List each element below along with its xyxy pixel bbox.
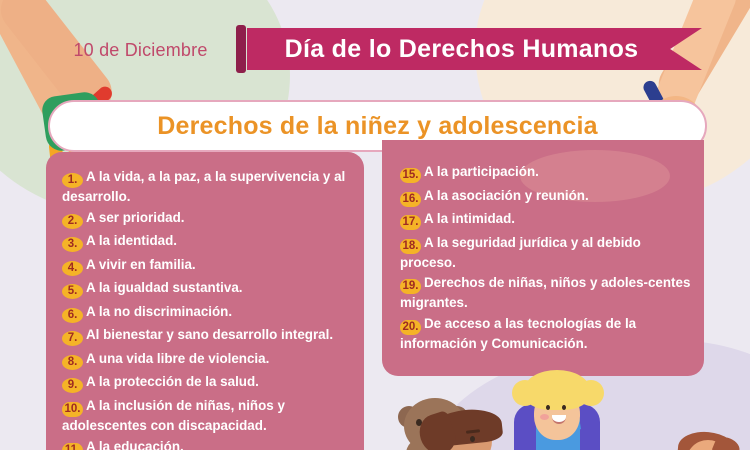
right-item: 16.A la asociación y reunión. xyxy=(400,187,692,207)
girl-eye xyxy=(546,405,550,410)
right-item: 1.A la vida, a la paz, a la supervivenci… xyxy=(62,168,354,205)
right-item-number-badge: 18. xyxy=(400,239,421,254)
right-item-number-badge: 7. xyxy=(62,331,83,346)
boy-head xyxy=(440,414,492,450)
right-item-number-badge: 5. xyxy=(62,284,83,299)
right-item-number-badge: 11. xyxy=(62,443,83,450)
girl-body xyxy=(514,404,600,450)
right-item: 15.A la participación. xyxy=(400,163,692,183)
right-item-text: De acceso a las tecnologías de la inform… xyxy=(400,316,636,351)
right-item: 11.A la educación. xyxy=(62,438,354,450)
right-item-text: A la seguridad jurídica y al debido proc… xyxy=(400,235,641,270)
right-item-text: A la identidad. xyxy=(86,233,177,248)
child-hair xyxy=(677,430,738,450)
right-item-number-badge: 20. xyxy=(400,320,421,335)
right-item-number-badge: 17. xyxy=(400,215,421,230)
right-item-number-badge: 16. xyxy=(400,192,421,207)
right-item-text: A vivir en familia. xyxy=(86,257,196,272)
right-item: 17.A la intimidad. xyxy=(400,210,692,230)
right-item-number-badge: 9. xyxy=(62,378,83,393)
teddy-bear-ear xyxy=(398,406,420,428)
boy-eye xyxy=(470,436,475,442)
right-item-text: A la vida, a la paz, a la supervivencia … xyxy=(62,169,345,204)
girl-cheek xyxy=(540,414,549,420)
right-item-number-badge: 6. xyxy=(62,308,83,323)
teddy-bear-eye xyxy=(450,419,456,426)
right-item-text: A ser prioridad. xyxy=(86,210,184,225)
right-item-number-badge: 2. xyxy=(62,214,83,229)
teddy-bear-head-icon xyxy=(404,398,466,450)
poster-canvas: 10 de Diciembre Día de lo Derechos Human… xyxy=(0,0,750,450)
date-label: 10 de Diciembre xyxy=(58,40,223,61)
right-item: 20.De acceso a las tecnologías de la inf… xyxy=(400,315,692,352)
teddy-bear-ear xyxy=(446,406,468,428)
girl-hair xyxy=(524,370,590,410)
right-item-text: A la no discriminación. xyxy=(86,304,232,319)
boy-eyebrow xyxy=(466,429,480,433)
teddy-bear-snout xyxy=(423,428,449,448)
right-item: 5.A la igualdad sustantiva. xyxy=(62,279,354,299)
right-item-text: A una vida libre de violencia. xyxy=(86,351,269,366)
girl-head xyxy=(534,388,580,440)
boy-hair xyxy=(428,406,503,447)
right-item-number-badge: 15. xyxy=(400,168,421,183)
right-item-text: A la protección de la salud. xyxy=(86,374,259,389)
right-item: 9.A la protección de la salud. xyxy=(62,373,354,393)
right-item-text: A la asociación y reunión. xyxy=(424,188,589,203)
girl-eye xyxy=(562,405,566,410)
right-item-number-badge: 10. xyxy=(62,402,83,417)
right-item-text: A la educación. xyxy=(86,439,184,450)
girl-mouth xyxy=(552,415,566,424)
right-item: 19.Derechos de niñas, niños y adoles-cen… xyxy=(400,274,692,311)
girl-overall-strap xyxy=(568,403,581,430)
teddy-bear-eye xyxy=(416,419,422,426)
teddy-bear-nose xyxy=(431,429,441,436)
right-item: 6.A la no discriminación. xyxy=(62,303,354,323)
right-item-number-badge: 19. xyxy=(400,279,421,294)
rights-list-left: 1.A la vida, a la paz, a la supervivenci… xyxy=(62,168,354,450)
right-item: 8.A una vida libre de violencia. xyxy=(62,350,354,370)
subtitle-text: Derechos de la niñez y adolescencia xyxy=(157,112,598,141)
child-head xyxy=(686,440,730,450)
right-item-text: A la igualdad sustantiva. xyxy=(86,280,243,295)
banner-title: Día de lo Derechos Humanos xyxy=(285,35,639,64)
rights-list-right: 15.A la participación.16.A la asociación… xyxy=(400,163,692,356)
right-item-number-badge: 3. xyxy=(62,237,83,252)
right-item-text: Al bienestar y sano desarrollo integral. xyxy=(86,327,333,342)
girl-hair-bun xyxy=(512,380,538,406)
right-item: 18.A la seguridad jurídica y al debido p… xyxy=(400,234,692,271)
banner-ribbon: Día de lo Derechos Humanos xyxy=(247,28,702,70)
right-item-number-badge: 1. xyxy=(62,173,83,188)
ribbon-end-tab xyxy=(236,25,246,73)
right-item-text: A la participación. xyxy=(424,164,539,179)
right-item: 7.Al bienestar y sano desarrollo integra… xyxy=(62,326,354,346)
right-item-number-badge: 8. xyxy=(62,355,83,370)
teddy-bear-body xyxy=(406,438,464,450)
right-item-text: A la inclusión de niñas, niños y adolesc… xyxy=(62,398,285,433)
child-hair-tuft xyxy=(712,434,743,450)
girl-overalls xyxy=(536,414,580,450)
right-item-text: A la intimidad. xyxy=(424,211,515,226)
girl-hair-bun xyxy=(578,380,604,406)
right-item: 2.A ser prioridad. xyxy=(62,209,354,229)
right-item: 10.A la inclusión de niñas, niños y adol… xyxy=(62,397,354,434)
right-item: 3.A la identidad. xyxy=(62,232,354,252)
boy-hair-fringe xyxy=(415,410,460,450)
girl-overall-strap xyxy=(536,403,549,430)
right-item: 4.A vivir en familia. xyxy=(62,256,354,276)
right-item-number-badge: 4. xyxy=(62,261,83,276)
right-item-text: Derechos de niñas, niños y adoles-centes… xyxy=(400,275,690,310)
